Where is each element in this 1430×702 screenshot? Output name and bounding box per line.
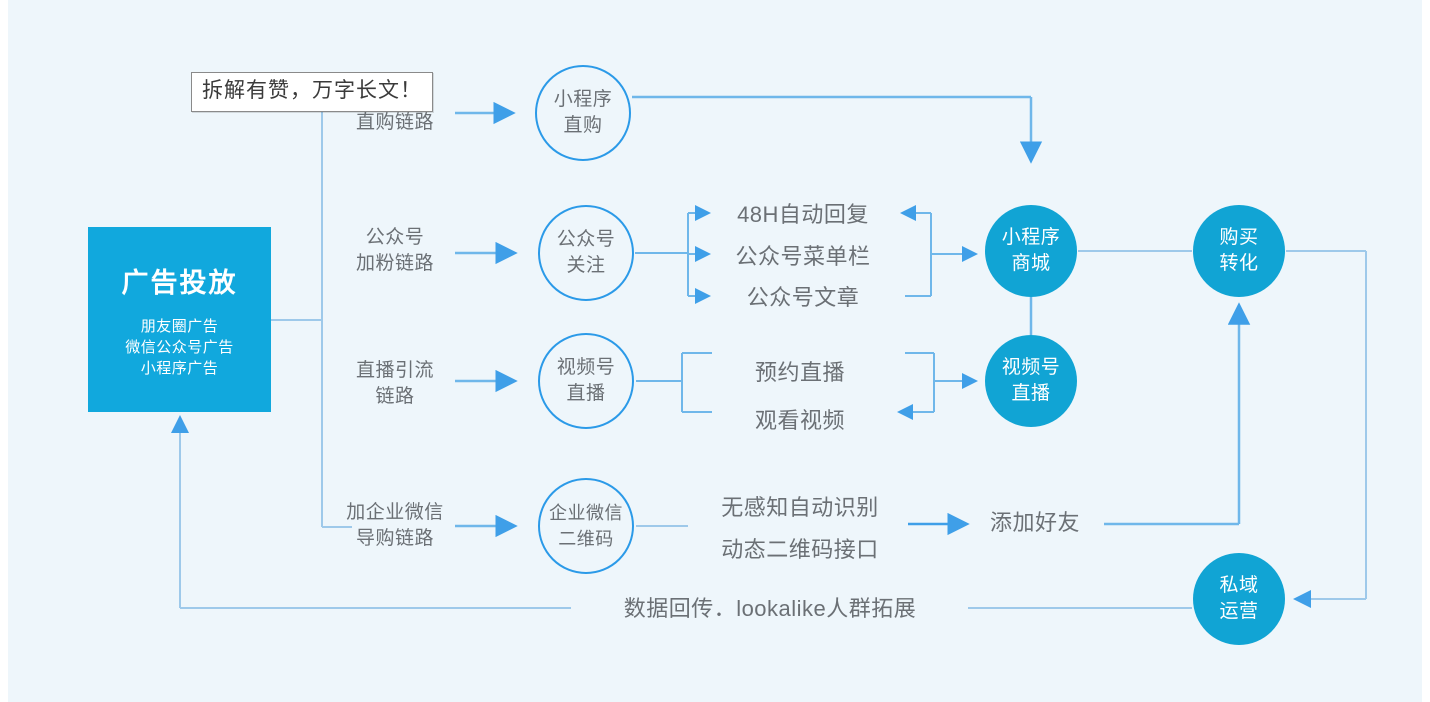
link-label-livestream-traffic-l2: 链路 [315,384,475,410]
mid-item-menu-bar: 公众号菜单栏 [718,242,888,272]
diagram-canvas: 广告投放 朋友圈广告 微信公众号广告 小程序广告 直购链路 公众号 加粉链路 直… [0,0,1430,702]
mid-item-wecom-detail: 无感知自动识别 动态二维码接口 [700,487,900,571]
source-line-3: 小程序广告 [141,358,219,379]
source-line-1: 朋友圈广告 [141,316,219,337]
link-label-wecom-guide-l1: 加企业微信 [315,500,475,526]
circle-channels-live-filled-l2: 直播 [1002,381,1061,407]
circle-mini-program-direct-l2: 直购 [554,113,613,139]
mid-item-auto-reply: 48H自动回复 [718,200,888,230]
circle-mini-program-mall-l2: 商城 [1002,251,1061,277]
circle-channels-live-filled: 视频号 直播 [985,335,1077,427]
link-label-official-account-fans-l1: 公众号 [315,225,475,251]
mid-item-add-friend: 添加好友 [955,508,1115,538]
circle-mini-program-direct-l1: 小程序 [554,87,613,113]
link-label-wecom-guide-l2: 导购链路 [315,526,475,552]
link-label-livestream-traffic-l1: 直播引流 [315,358,475,384]
source-title: 广告投放 [122,261,238,300]
circle-purchase-conversion: 购买 转化 [1193,205,1285,297]
caption-tooltip-text: 拆解有赞，万字长文！ [202,79,422,102]
link-label-direct-purchase: 直购链路 [315,110,475,136]
circle-channels-live-filled-l1: 视频号 [1002,355,1061,381]
mid-item-article: 公众号文章 [718,283,888,313]
circle-mini-program-mall: 小程序 商城 [985,205,1077,297]
mid-item-book-livestream: 预约直播 [715,358,885,388]
circle-channels-live-l1: 视频号 [557,355,616,381]
link-label-official-account-fans: 公众号 加粉链路 [315,225,475,277]
circle-mini-program-mall-l1: 小程序 [1002,225,1061,251]
circle-wecom-qrcode-l1: 企业微信 [549,500,623,526]
circle-mini-program-direct: 小程序 直购 [535,65,631,161]
circle-official-account-follow-l1: 公众号 [557,227,616,253]
link-label-official-account-fans-l2: 加粉链路 [315,251,475,277]
circle-private-domain-l2: 运营 [1219,599,1258,625]
circle-channels-live: 视频号 直播 [538,333,634,429]
mid-item-wecom-detail-l2: 动态二维码接口 [700,529,900,571]
circle-private-domain-l1: 私域 [1219,573,1258,599]
circle-private-domain: 私域 运营 [1193,553,1285,645]
link-label-direct-purchase-text: 直购链路 [315,110,475,136]
mid-item-watch-video: 观看视频 [715,406,885,436]
circle-channels-live-l2: 直播 [557,381,616,407]
source-line-2: 微信公众号广告 [125,337,234,358]
link-label-wecom-guide: 加企业微信 导购链路 [315,500,475,552]
source-ad-delivery-box: 广告投放 朋友圈广告 微信公众号广告 小程序广告 [88,227,271,412]
link-label-livestream-traffic: 直播引流 链路 [315,358,475,410]
circle-wecom-qrcode: 企业微信 二维码 [538,478,634,574]
caption-tooltip: 拆解有赞，万字长文！ [191,72,433,112]
circle-wecom-qrcode-l2: 二维码 [549,526,623,552]
circle-official-account-follow-l2: 关注 [557,253,616,279]
circle-purchase-conversion-l2: 转化 [1219,251,1258,277]
circle-purchase-conversion-l1: 购买 [1219,225,1258,251]
circle-official-account-follow: 公众号 关注 [538,205,634,301]
feedback-data-label: 数据回传．lookalike人群拓展 [575,594,965,624]
mid-item-wecom-detail-l1: 无感知自动识别 [700,487,900,529]
